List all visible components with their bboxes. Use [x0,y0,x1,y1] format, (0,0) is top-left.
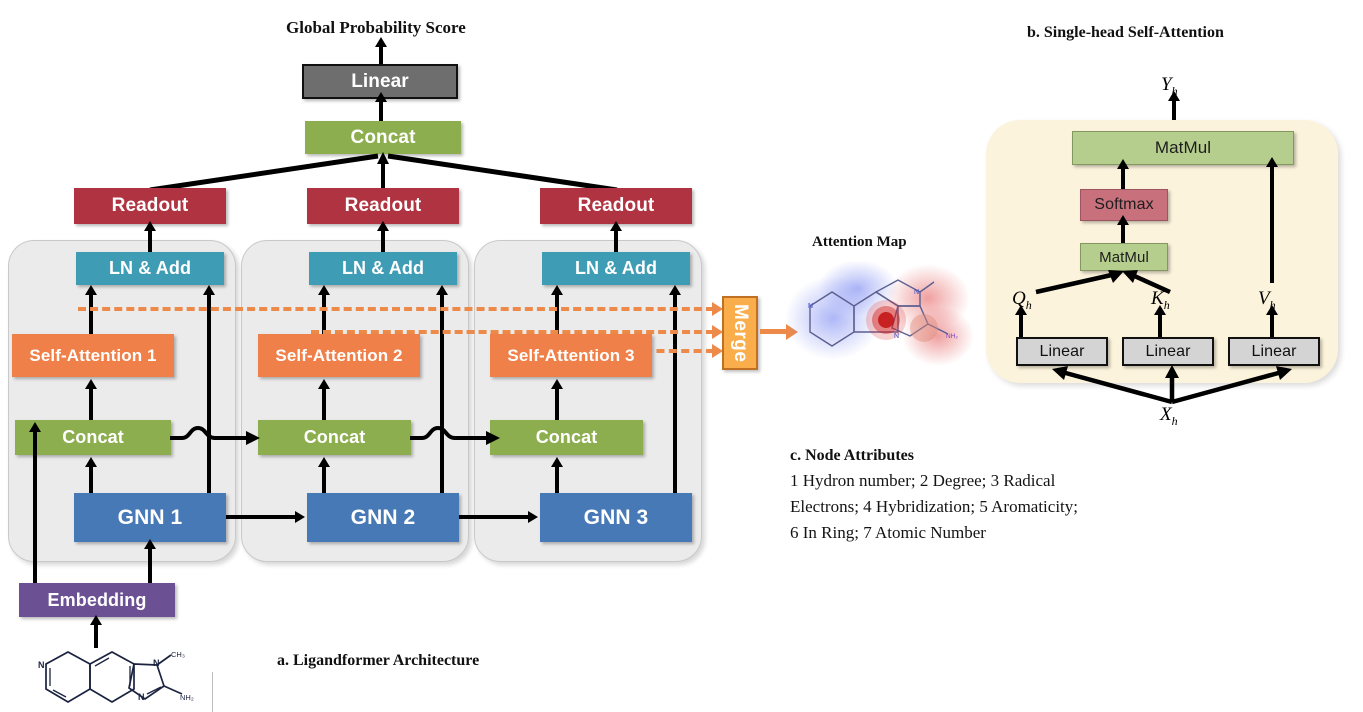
panel-c-caption: c. Node Attributes [790,447,914,465]
merge-box[interactable]: Merge [722,296,758,370]
ln-add-box-3[interactable]: LN & Add [542,252,690,285]
xh-main: X [1160,404,1172,425]
readout-box-1[interactable]: Readout [74,188,226,224]
attention-dashed-line-1 [78,307,714,311]
svg-text:CH₃: CH₃ [171,650,185,659]
svg-text:N: N [914,289,919,296]
arrow-concat-to-sa-2 [322,388,326,423]
residual-arrow-3 [673,294,677,504]
arrow-gnn2-to-gnn3 [459,515,529,519]
arrow-gnn1-to-gnn2 [226,515,296,519]
svg-text:NH₂: NH₂ [180,693,194,702]
concat-box-2[interactable]: Concat [258,420,411,455]
svg-text:N: N [138,692,145,702]
svg-text:N: N [153,658,160,668]
concat-squiggle-2 [408,420,504,456]
residual-arrow-1 [207,294,211,504]
node-attributes-line-3: 6 In Ring; 7 Atomic Number [790,522,986,545]
arrow-sa-to-ln-1 [89,294,93,338]
node-attributes-line-2: Electrons; 4 Hybridization; 5 Aromaticit… [790,496,1078,519]
embedding-box[interactable]: Embedding [19,583,175,617]
arrow-ln-to-readout-3 [614,230,618,252]
self-attention-box-2[interactable]: Self-Attention 2 [258,334,420,377]
arrow-concat-to-sa-1 [89,388,93,423]
concat-squiggle-1 [168,420,264,456]
gnn-box-1[interactable]: GNN 1 [74,493,226,542]
arrow-matmul-to-softmax [1121,224,1125,244]
readout-box-2[interactable]: Readout [307,188,459,224]
panel-b-caption: b. Single-head Self-Attention [1027,24,1224,42]
gnn-box-2-fixed[interactable]: GNN 2 [307,493,459,542]
arrow-linear-to-score [379,46,383,64]
xh-sub: h [1172,414,1178,428]
input-molecule-structure: N N N CH₃ NH₂ [16,644,196,712]
arrow-ln-to-readout-2 [381,230,385,252]
attention-map-molecule: N N N NH₂ [788,258,978,378]
gnn-box-3[interactable]: GNN 3 [540,493,692,542]
arrow-softmax-to-matmul [1121,168,1125,190]
residual-arrow-2 [440,294,444,504]
svg-text:N: N [808,303,813,310]
concat-box-3[interactable]: Concat [490,420,643,455]
arrow-concat-to-sa-3 [555,388,559,423]
arrow-linear-to-k [1158,314,1162,338]
attention-map-label: Attention Map [812,234,907,251]
matmul-bottom-box[interactable]: MatMul [1080,243,1168,271]
arrow-embedding-to-gnn1 [148,548,152,585]
arrow-merge-to-attention-map [760,329,788,334]
matmul-top-box[interactable]: MatMul [1072,131,1294,165]
arrow-linear-to-v [1270,314,1274,338]
svg-text:N: N [894,333,899,340]
panel-a-caption: a. Ligandformer Architecture [277,652,479,670]
arrow-linear-to-q [1019,314,1023,338]
merge-label: Merge [729,304,751,362]
arrow-v-to-matmul-top [1270,166,1274,283]
global-probability-score-label: Global Probability Score [286,18,466,38]
readout-box-3[interactable]: Readout [540,188,692,224]
svg-text:NH₂: NH₂ [946,333,958,340]
xh-label: Xh [1160,404,1178,429]
arrow-concat-to-linear [379,101,383,121]
self-attention-box-3[interactable]: Self-Attention 3 [490,334,652,377]
arrow-embedding-to-concat-1 [33,431,37,585]
qk-to-matmul-arrows [1020,268,1220,308]
ln-add-box-2[interactable]: LN & Add [309,252,457,285]
ln-add-box-1[interactable]: LN & Add [76,252,224,285]
svg-text:N: N [38,660,45,670]
arrow-ln-to-readout-1 [148,230,152,252]
self-attention-box-1[interactable]: Self-Attention 1 [12,334,174,377]
divider-line [212,672,213,712]
node-attributes-line-1: 1 Hydron number; 2 Degree; 3 Radical [790,470,1055,493]
